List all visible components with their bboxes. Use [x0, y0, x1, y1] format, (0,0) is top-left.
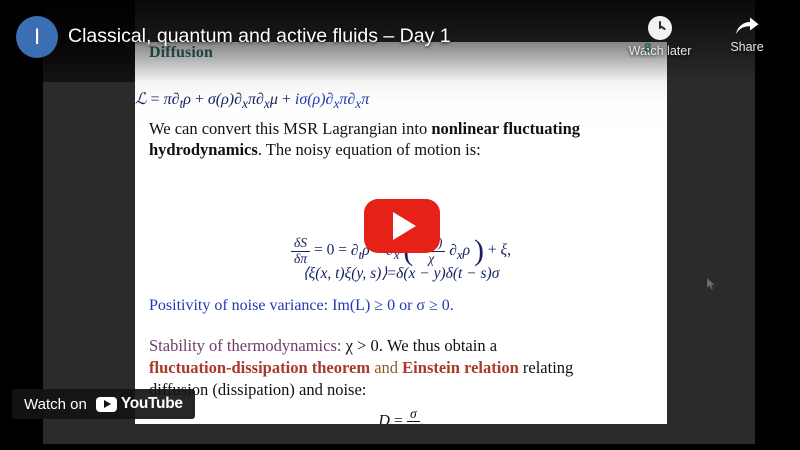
paragraph-msr: We can convert this MSR Lagrangian into …: [149, 118, 654, 160]
share-arrow-icon: [734, 16, 760, 36]
channel-avatar[interactable]: I: [16, 16, 58, 58]
stability-chi: χ > 0.: [346, 336, 383, 355]
clock-icon: [648, 16, 672, 40]
paragraph-msr-before: We can convert this MSR Lagrangian into: [149, 119, 431, 138]
stability-conjunction: and: [370, 358, 402, 377]
youtube-wordmark: YouTube: [121, 395, 183, 413]
equation-lagrangian: ℒ = π∂tρ + σ(ρ)∂xπ∂xμ + iσ(ρ)∂xπ∂xπ: [135, 89, 667, 112]
letterbox-right: [755, 0, 800, 450]
share-label: Share: [730, 40, 763, 54]
stability-tail: relating: [519, 358, 574, 377]
youtube-video-player[interactable]: Diffusion ℒ = π∂tρ + σ(ρ)∂xπ∂xμ + iσ(ρ)∂…: [0, 0, 800, 450]
youtube-play-icon: [96, 397, 117, 412]
equation-diffusion-constant: D = σχ.: [135, 407, 667, 424]
video-title[interactable]: Classical, quantum and active fluids – D…: [68, 25, 451, 48]
watch-on-youtube-button[interactable]: Watch on YouTube: [12, 389, 195, 419]
youtube-brand: YouTube: [96, 395, 183, 413]
stability-mid: We thus obtain a: [383, 336, 497, 355]
watch-on-label: Watch on: [24, 396, 87, 413]
play-triangle-icon: [393, 212, 416, 240]
share-button[interactable]: Share: [714, 16, 780, 54]
term-einstein-relation: Einstein relation: [402, 358, 519, 377]
mouse-pointer-icon: [707, 277, 716, 289]
watch-later-button[interactable]: Watch later: [622, 16, 698, 58]
paragraph-msr-after: . The noisy equation of motion is:: [258, 140, 481, 159]
watch-later-badge: 8: [644, 40, 651, 55]
positivity-statement: Positivity of noise variance: Im(L) ≥ 0 …: [149, 297, 454, 315]
term-fluctuation-dissipation: fluctuation-dissipation theorem: [149, 358, 370, 377]
letterbox-left: [0, 0, 43, 450]
watch-later-label: Watch later: [629, 44, 692, 58]
equation-noise-correlator: ⟨ξ(x, t)ξ(y, s)⟩=δ(x − y)δ(t − s)σ: [135, 264, 667, 283]
letterbox-bottom: [0, 444, 800, 450]
stability-lead: Stability of thermodynamics:: [149, 336, 346, 355]
stability-statement: Stability of thermodynamics: χ > 0. We t…: [149, 335, 654, 401]
play-button[interactable]: [364, 199, 440, 253]
